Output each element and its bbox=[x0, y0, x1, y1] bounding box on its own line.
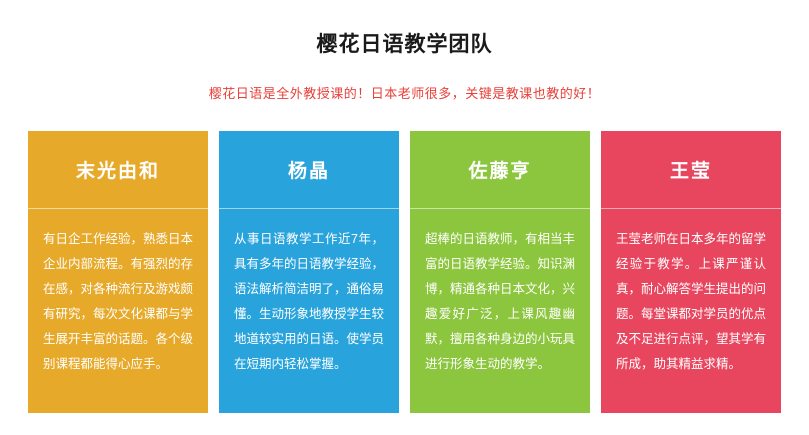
teacher-name: 佐藤亨 bbox=[468, 156, 531, 183]
teacher-bio: 王莹老师在日本多年的留学经验于教学。上课严谨认真，耐心解答学生提出的问题。每堂课… bbox=[601, 208, 781, 413]
teacher-card-list: 末光由和 有日企工作经验，熟悉日本企业内部流程。有强烈的存在感，对各种流行及游戏… bbox=[0, 131, 809, 413]
teacher-card-header: 王莹 bbox=[601, 131, 781, 208]
teacher-bio: 从事日语教学工作近7年，具有多年的日语教学经验，语法解析简洁明了，通俗易懂。生动… bbox=[219, 208, 399, 413]
teacher-name: 杨晶 bbox=[288, 156, 330, 183]
teacher-card-header: 佐藤亨 bbox=[410, 131, 590, 208]
teacher-name: 末光由和 bbox=[76, 156, 160, 183]
teacher-card[interactable]: 末光由和 有日企工作经验，熟悉日本企业内部流程。有强烈的存在感，对各种流行及游戏… bbox=[28, 131, 208, 413]
teacher-card[interactable]: 王莹 王莹老师在日本多年的留学经验于教学。上课严谨认真，耐心解答学生提出的问题。… bbox=[601, 131, 781, 413]
teacher-card-header: 杨晶 bbox=[219, 131, 399, 208]
teacher-card-header: 末光由和 bbox=[28, 131, 208, 208]
teacher-bio: 有日企工作经验，熟悉日本企业内部流程。有强烈的存在感，对各种流行及游戏颇有研究，… bbox=[28, 208, 208, 413]
page-title: 樱花日语教学团队 bbox=[0, 0, 809, 58]
page-root: 樱花日语教学团队 樱花日语是全外教授课的！日本老师很多，关键是教课也教的好！ 末… bbox=[0, 0, 809, 435]
teacher-card[interactable]: 杨晶 从事日语教学工作近7年，具有多年的日语教学经验，语法解析简洁明了，通俗易懂… bbox=[219, 131, 399, 413]
teacher-name: 王莹 bbox=[670, 156, 712, 183]
teacher-bio: 超棒的日语教师，有相当丰富的日语教学经验。知识渊博，精通各种日本文化，兴趣爱好广… bbox=[410, 208, 590, 413]
page-subtitle: 樱花日语是全外教授课的！日本老师很多，关键是教课也教的好！ bbox=[0, 83, 809, 102]
teacher-card[interactable]: 佐藤亨 超棒的日语教师，有相当丰富的日语教学经验。知识渊博，精通各种日本文化，兴… bbox=[410, 131, 590, 413]
